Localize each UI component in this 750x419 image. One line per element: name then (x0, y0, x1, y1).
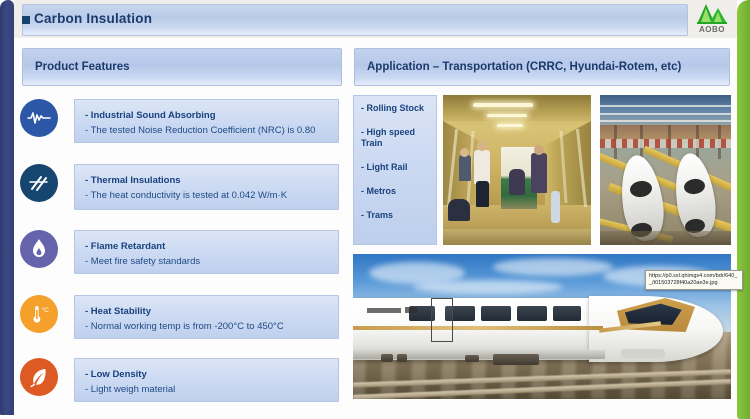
application-header-label: Application – Transportation (CRRC, Hyun… (367, 61, 681, 73)
aobo-logo: AOBO (693, 3, 731, 36)
feature-detail: - Normal working temp is from -200°C to … (85, 319, 329, 334)
feature-title: - Flame Retardant (85, 239, 329, 254)
slide-canvas: Carbon Insulation AOBO Product Features … (0, 0, 750, 419)
sound-wave-icon (20, 99, 58, 137)
page-title: Carbon Insulation (34, 11, 152, 26)
feature-detail: - Light weigh material (85, 382, 329, 397)
aobo-logo-text: AOBO (693, 25, 731, 34)
feature-title: - Low Density (85, 367, 329, 382)
image-url-tooltip: https://p0.ssl.qhimgs4.com/bdr/640__/t01… (645, 270, 743, 290)
feature-detail: - The tested Noise Reduction Coefficient… (85, 123, 329, 138)
feature-detail: - Meet fire safety standards (85, 254, 329, 269)
feature-text-box: - Industrial Sound Absorbing - The teste… (74, 99, 339, 143)
feature-title: - Heat Stability (85, 304, 329, 319)
product-features-header: Product Features (22, 48, 342, 86)
thermometer-icon: °C (20, 295, 58, 333)
feature-text-box: - Thermal Insulations - The heat conduct… (74, 164, 339, 210)
application-list-item: - High speed Train (361, 127, 436, 149)
feather-icon (20, 358, 58, 396)
application-header: Application – Transportation (CRRC, Hyun… (354, 48, 730, 86)
left-accent-bar (0, 0, 14, 415)
feature-text-box: - Heat Stability - Normal working temp i… (74, 295, 339, 339)
feature-text-box: - Low Density - Light weigh material (74, 358, 339, 402)
train-door-frame (431, 298, 453, 342)
product-features-header-label: Product Features (35, 61, 130, 73)
application-list-item: - Metros (361, 186, 436, 197)
svg-text:°C: °C (42, 306, 50, 314)
application-list-item: - Trams (361, 210, 436, 221)
application-list: - Rolling Stock - High speed Train - Lig… (353, 95, 437, 245)
train-interior-assembly-photo (443, 95, 591, 245)
aobo-mountain-icon (697, 3, 727, 25)
flame-icon (20, 230, 58, 268)
application-list-item: - Light Rail (361, 162, 436, 173)
train-nose-factory-photo (600, 95, 731, 245)
header-bullet-icon (22, 16, 30, 24)
application-list-item: - Rolling Stock (361, 103, 436, 114)
feature-text-box: - Flame Retardant - Meet fire safety sta… (74, 230, 339, 274)
thermal-lines-icon (20, 164, 58, 202)
right-accent-bar (737, 0, 750, 419)
feature-detail: - The heat conductivity is tested at 0.0… (85, 188, 329, 203)
feature-title: - Industrial Sound Absorbing (85, 108, 329, 123)
feature-title: - Thermal Insulations (85, 173, 329, 188)
